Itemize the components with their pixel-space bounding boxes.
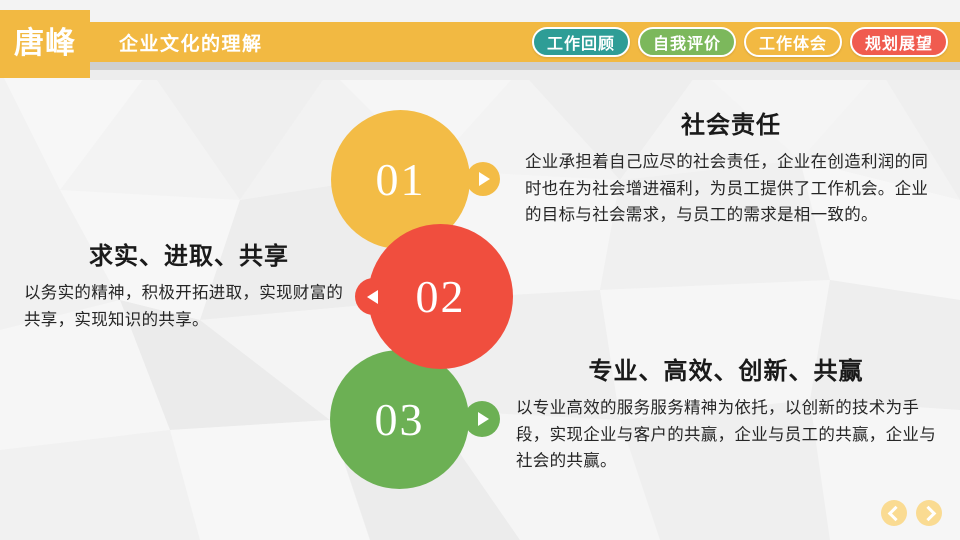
chevron-left-icon[interactable] bbox=[881, 500, 907, 526]
tab-future-plan[interactable]: 规划展望 bbox=[850, 27, 948, 57]
play-right-icon-01[interactable] bbox=[466, 162, 500, 196]
triangle-left-glyph bbox=[367, 290, 378, 304]
chevron-left-glyph bbox=[887, 505, 903, 521]
logo-box: 唐峰 bbox=[0, 10, 90, 78]
block-body: 以务实的精神，积极开拓进取，实现财富的共享，实现知识的共享。 bbox=[24, 280, 354, 333]
header-gray-strip-light bbox=[90, 70, 960, 80]
block-body: 以专业高效的服务服务精神为依托，以创新的技术为手段，实现企业与客户的共赢，企业与… bbox=[516, 395, 936, 475]
page-title: 企业文化的理解 bbox=[119, 29, 263, 56]
content-block-social-responsibility: 社会责任 企业承担着自己应尽的社会责任，企业在创造利润的同时也在为社会增进福利，… bbox=[525, 112, 937, 229]
block-title: 专业、高效、创新、共赢 bbox=[516, 358, 936, 387]
circle-step-03[interactable]: 03 bbox=[330, 350, 469, 489]
header-gray-strip bbox=[90, 62, 960, 70]
block-title: 求实、进取、共享 bbox=[24, 243, 354, 272]
triangle-right-glyph bbox=[479, 172, 490, 186]
slide-canvas: 唐峰 企业文化的理解 工作回顾 自我评价 工作体会 规划展望 01 02 03 … bbox=[0, 0, 960, 540]
logo-text: 唐峰 bbox=[14, 29, 76, 59]
play-right-icon-03[interactable] bbox=[464, 401, 500, 437]
pagination-controls bbox=[881, 500, 942, 526]
content-block-professional-efficient-innovative-winwin: 专业、高效、创新、共赢 以专业高效的服务服务精神为依托，以创新的技术为手段，实现… bbox=[516, 358, 936, 475]
play-left-icon-02[interactable] bbox=[355, 278, 392, 315]
tab-work-review[interactable]: 工作回顾 bbox=[532, 27, 630, 57]
triangle-right-glyph bbox=[478, 412, 489, 426]
chevron-right-glyph bbox=[920, 505, 936, 521]
tab-self-evaluation[interactable]: 自我评价 bbox=[638, 27, 736, 57]
block-title: 社会责任 bbox=[525, 112, 937, 141]
chevron-right-icon[interactable] bbox=[916, 500, 942, 526]
nav-tabs: 工作回顾 自我评价 工作体会 规划展望 bbox=[532, 27, 948, 57]
block-body: 企业承担着自己应尽的社会责任，企业在创造利润的同时也在为社会增进福利，为员工提供… bbox=[525, 149, 937, 229]
content-block-pragmatic-progress-sharing: 求实、进取、共享 以务实的精神，积极开拓进取，实现财富的共享，实现知识的共享。 bbox=[24, 243, 354, 333]
tab-work-experience[interactable]: 工作体会 bbox=[744, 27, 842, 57]
